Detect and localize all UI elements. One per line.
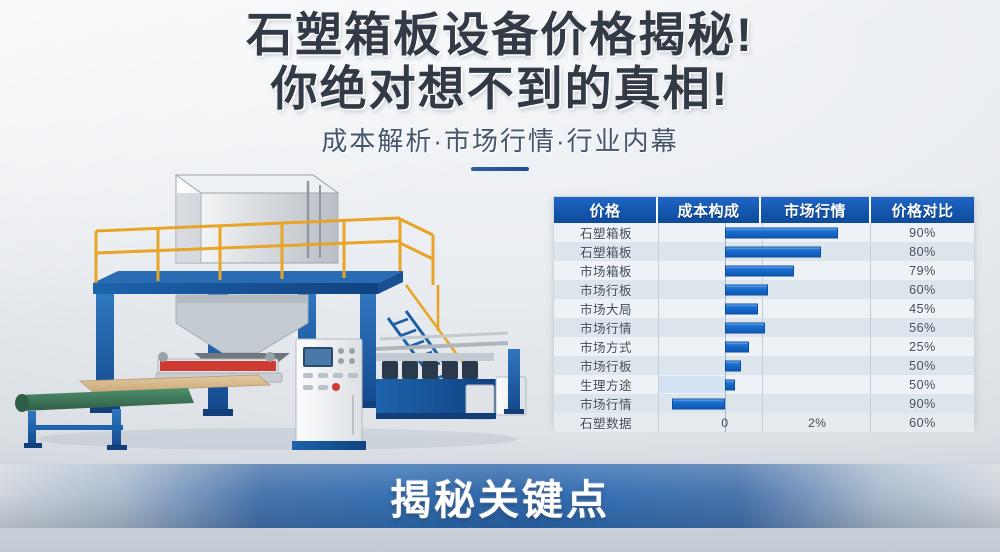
row-plot-area [658,375,871,394]
chart-header-row: 价格 成本构成 市场行情 价格对比 [554,197,974,223]
subtitle: 成本解析·市场行情·行业内幕 [0,126,1000,156]
column-divider [762,375,763,394]
column-divider [762,337,763,356]
bar[interactable] [725,265,794,276]
table-row[interactable]: 市场行情56% [554,318,974,337]
row-label: 生理方途 [554,375,658,394]
accent-divider [471,167,529,171]
row-plot-area [658,337,871,356]
row-label: 石塑箱板 [554,242,658,261]
table-row[interactable]: 石塑数据02%60% [554,413,974,432]
row-value: 45% [871,302,974,316]
table-row[interactable]: 市场大局45% [554,299,974,318]
row-value: 56% [871,321,974,335]
row-plot-area [658,394,871,413]
row-plot-area [658,280,871,299]
x-axis-tick: 2% [808,416,826,430]
column-header-cost-structure: 成本构成 [658,197,761,223]
banner-title: 揭秘关键点 [390,466,610,526]
row-label: 市场大局 [554,299,658,318]
bar[interactable] [725,379,735,390]
column-header-price-compare: 价格对比 [871,197,974,223]
headline-line-2: 你绝对想不到的真相! [0,64,1000,114]
headline-block: 石塑箱板设备价格揭秘! 你绝对想不到的真相! 成本解析·市场行情·行业内幕 [0,10,1000,171]
table-row[interactable]: 石塑箱板80% [554,242,974,261]
column-divider [762,356,763,375]
price-comparison-chart[interactable]: 价格 成本构成 市场行情 价格对比 石塑箱板90%石塑箱板80%市场箱板79%市… [553,196,975,424]
row-value: 79% [871,264,974,278]
row-value: 60% [871,283,974,297]
bar[interactable] [672,398,725,409]
row-label: 石塑数据 [554,413,658,432]
column-header-market: 市场行情 [761,197,871,223]
bar[interactable] [725,303,758,314]
row-value: 80% [871,245,974,259]
row-highlight [659,376,725,393]
table-row[interactable]: 市场行板60% [554,280,974,299]
row-label: 市场行情 [554,318,658,337]
row-label: 市场箱板 [554,261,658,280]
x-axis-tick: 0 [721,416,728,430]
table-row[interactable]: 生理方途50% [554,375,974,394]
row-value: 90% [871,397,974,411]
table-row[interactable]: 市场方式25% [554,337,974,356]
row-plot-area [658,261,871,280]
table-row[interactable]: 市场行情90% [554,394,974,413]
column-divider [762,413,763,432]
row-plot-area [658,299,871,318]
bar[interactable] [725,360,741,371]
headline-line-1: 石塑箱板设备价格揭秘! [0,10,1000,60]
row-label: 市场行情 [554,394,658,413]
row-plot-area: 02% [658,413,871,432]
row-plot-area [658,223,871,242]
bar[interactable] [725,284,769,295]
column-divider [762,394,763,413]
column-divider [762,299,763,318]
row-value: 50% [871,378,974,392]
bar[interactable] [725,341,749,352]
bottom-banner: 揭秘关键点 [0,464,1000,528]
chart-body: 石塑箱板90%石塑箱板80%市场箱板79%市场行板60%市场大局45%市场行情5… [554,223,974,432]
poster-canvas: 石塑箱板设备价格揭秘! 你绝对想不到的真相! 成本解析·市场行情·行业内幕 [0,0,1000,552]
column-header-price: 价格 [554,197,658,223]
row-label: 市场行板 [554,356,658,375]
zero-axis-line [725,394,726,413]
row-value: 60% [871,416,974,430]
bar[interactable] [725,322,765,333]
row-plot-area [658,242,871,261]
production-line-illustration [8,163,553,453]
bar[interactable] [725,227,838,238]
bar[interactable] [725,246,821,257]
row-plot-area [658,318,871,337]
table-row[interactable]: 市场行板50% [554,356,974,375]
row-value: 50% [871,359,974,373]
table-row[interactable]: 石塑箱板90% [554,223,974,242]
row-label: 石塑箱板 [554,223,658,242]
row-label: 市场行板 [554,280,658,299]
row-value: 25% [871,340,974,354]
row-label: 市场方式 [554,337,658,356]
row-value: 90% [871,226,974,240]
row-plot-area [658,356,871,375]
table-row[interactable]: 市场箱板79% [554,261,974,280]
